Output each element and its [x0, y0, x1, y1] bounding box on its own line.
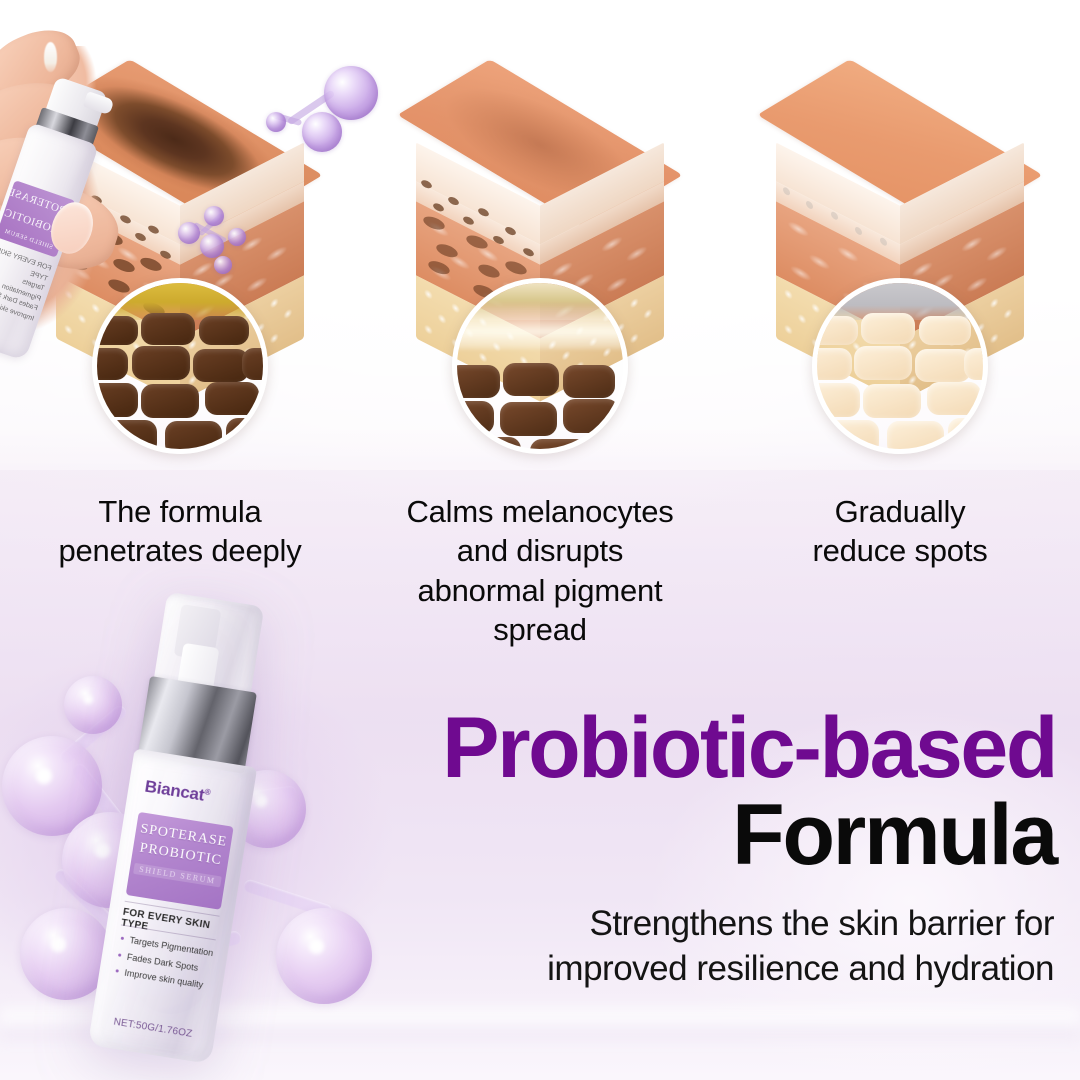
product-marketing-poster: The formula penetrates deeply: [0, 0, 1080, 1080]
step-panel-2: Calms melanocytes and disrupts abnormal …: [360, 0, 720, 600]
bottle-net-weight: NET:50G/1.76OZ: [113, 1017, 213, 1044]
hand-applying-serum: SPOTERASE PROBIOTIC SHIELD SERUM FOR EVE…: [0, 20, 212, 360]
caption-line: Calms melanocytes: [375, 492, 705, 531]
subheadline-line-1: Strengthens the skin barrier for: [374, 902, 1054, 947]
bottle-brand-name: Biancat®: [143, 777, 241, 812]
step-caption-3: Gradually reduce spots: [735, 492, 1065, 571]
step-caption-2: Calms melanocytes and disrupts abnormal …: [375, 492, 705, 649]
step-caption-1: The formula penetrates deeply: [15, 492, 345, 571]
headline-line-1: Probiotic-based: [316, 706, 1056, 790]
bottle-body: Biancat® SPOTERASE PROBIOTIC SHIELD SERU…: [88, 748, 257, 1064]
bottle-label-panel: SPOTERASE PROBIOTIC SHIELD SERUM: [126, 812, 234, 910]
subheadline-line-2: improved resilience and hydration: [374, 947, 1054, 992]
step-panel-3: Gradually reduce spots: [720, 0, 1080, 600]
caption-line: Gradually: [735, 492, 1065, 531]
magnifier-circle-icon-2: [452, 278, 628, 454]
caption-line: reduce spots: [735, 531, 1065, 570]
caption-line: penetrates deeply: [15, 531, 345, 570]
headline-block: Probiotic-based Formula: [316, 706, 1056, 880]
caption-line: and disrupts: [375, 531, 705, 570]
caption-line: abnormal pigment: [375, 571, 705, 610]
clear-cells: [812, 313, 988, 454]
registered-mark: ®: [204, 787, 211, 797]
mini-bottle-benefits: FOR EVERY SKIN TYPE Targets Pigmentation…: [0, 245, 52, 325]
headline-line-2: Formula: [316, 792, 1056, 880]
magnifier-circle-icon-3: [812, 278, 988, 454]
melanin-cells-lightening: [452, 313, 628, 454]
caption-line: The formula: [15, 492, 345, 531]
subheadline-block: Strengthens the skin barrier for improve…: [374, 902, 1054, 992]
caption-line: spread: [375, 610, 705, 649]
brand-text: Biancat: [143, 777, 205, 805]
droplet-icon: [44, 42, 57, 72]
